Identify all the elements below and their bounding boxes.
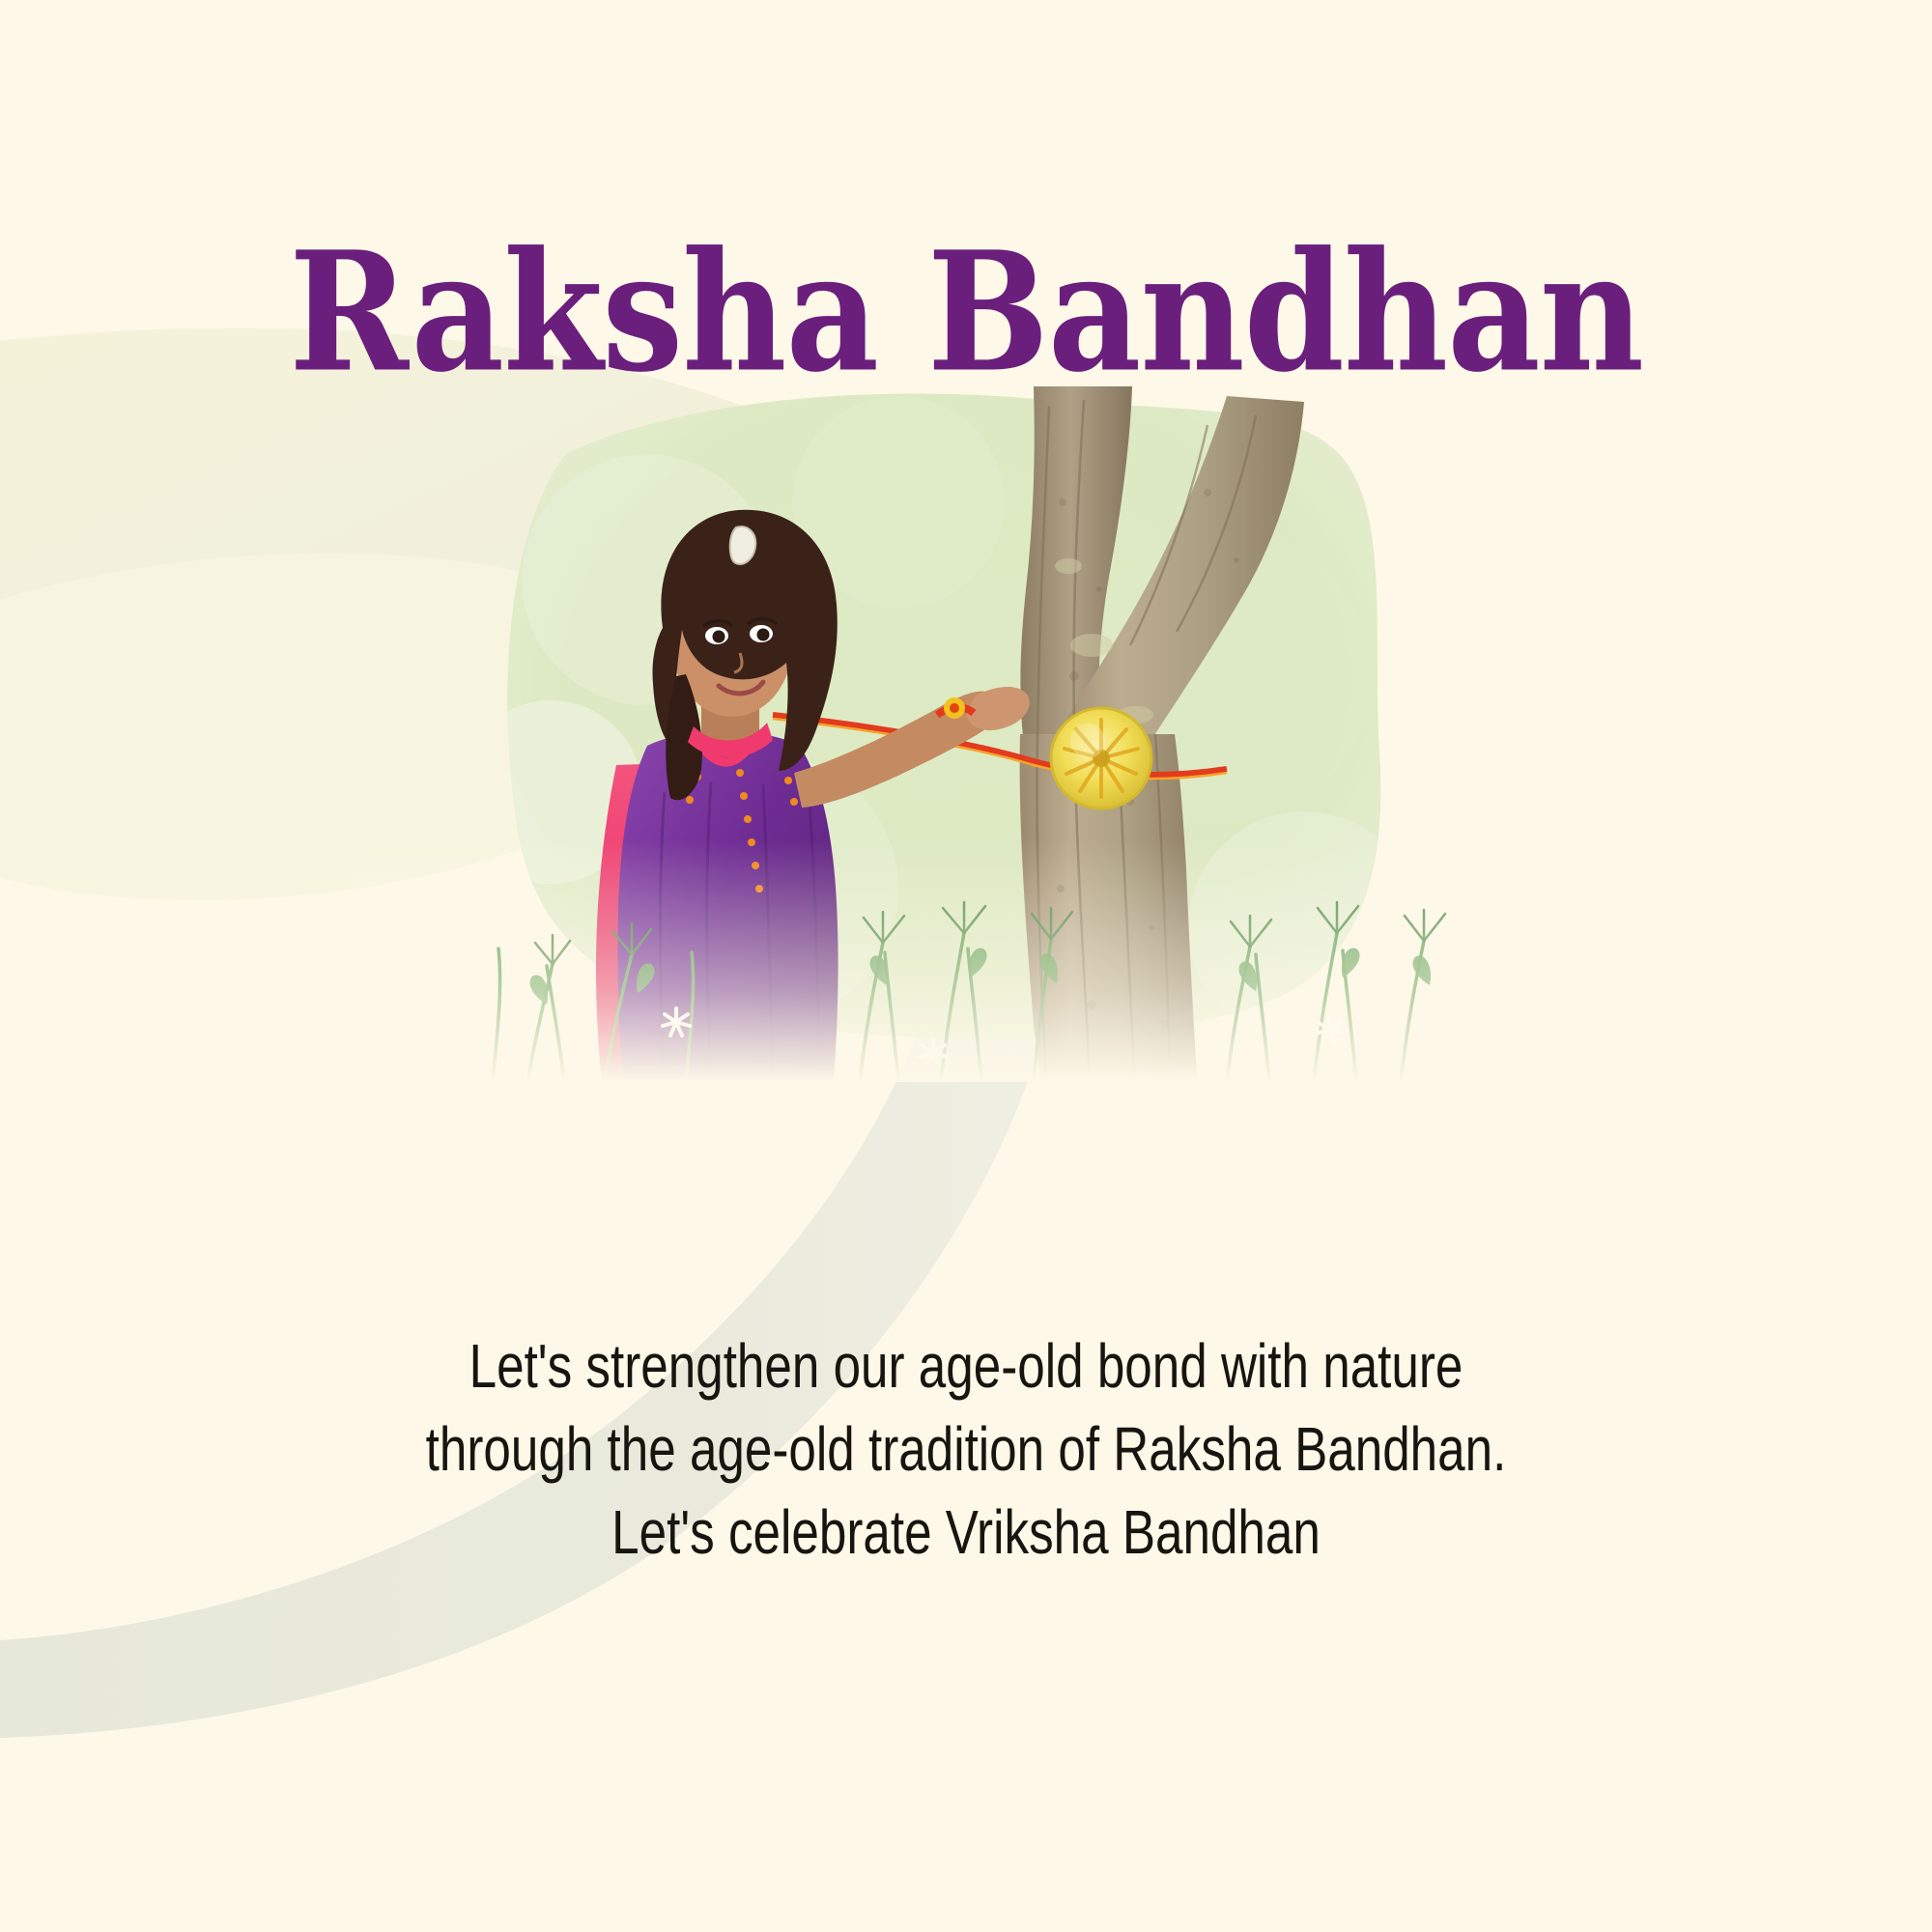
poster-canvas: Raksha Bandhan [0,0,1932,1932]
caption-line-2: through the age-old tradition of Raksha … [332,1408,1600,1492]
page-title: Raksha Bandhan [289,230,1643,394]
caption-line-3: Let's celebrate Vriksha Bandhan [332,1492,1600,1575]
artwork-svg [357,386,1555,1082]
artwork-illustration [357,386,1555,1082]
title-block: Raksha Bandhan [0,230,1932,377]
caption-block: Let's strengthen our age-old bond with n… [174,1325,1758,1574]
caption-line-1: Let's strengthen our age-old bond with n… [332,1325,1600,1408]
scene-bottom-fade [357,840,1555,1082]
rakhi-disc [1051,708,1151,809]
